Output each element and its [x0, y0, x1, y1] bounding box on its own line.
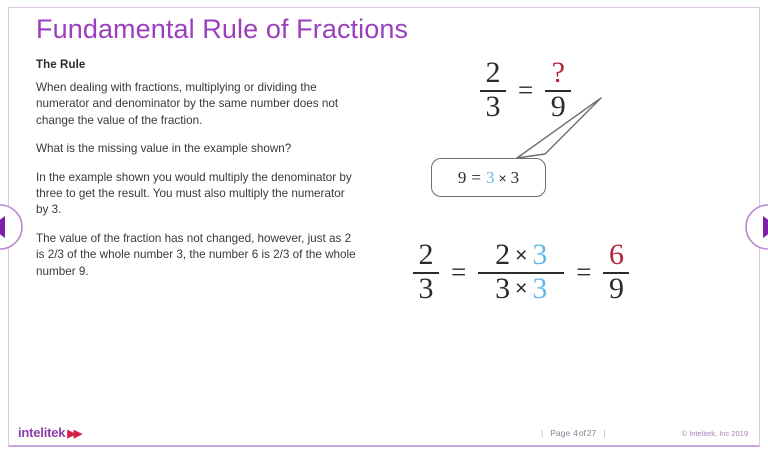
equals-sign-first: = [451, 257, 466, 288]
denominator-left-factor: 3 [495, 274, 510, 304]
separator-left: | [541, 428, 543, 438]
equation-bottom: 2 3 = 2 × 3 3 × 3 = 6 [413, 240, 629, 306]
page-label: Page [550, 428, 570, 438]
arrow-right-icon[interactable] [744, 203, 768, 251]
section-heading: The Rule [36, 59, 356, 71]
arrow-left-icon[interactable] [0, 203, 24, 251]
logo-wordmark: intelitek [18, 425, 65, 440]
fraction-two-thirds: 2 3 [480, 58, 506, 124]
page-title: Fundamental Rule of Fractions [36, 14, 408, 45]
paragraph-rule-definition: When dealing with fractions, multiplying… [36, 80, 356, 129]
numerator-right-factor: 3 [532, 240, 547, 270]
fraction-denominator: 3 [481, 92, 506, 124]
previous-slide-button[interactable] [0, 203, 24, 251]
body-text-column: The Rule When dealing with fractions, mu… [36, 59, 356, 280]
fraction-denominator-product: 3 × 3 [490, 274, 552, 306]
callout-times-icon: × [498, 170, 506, 186]
fraction-result: 6 9 [603, 240, 629, 306]
page-total: 27 [587, 428, 596, 438]
footer-divider [9, 445, 759, 447]
fraction-numerator-unknown: ? [547, 58, 570, 90]
callout-equals: = [471, 168, 481, 188]
paragraph-conclusion: The value of the fraction has not change… [36, 231, 356, 280]
result-numerator: 6 [604, 240, 629, 272]
numerator-times-icon: × [515, 245, 527, 266]
callout-factor-highlight: 3 [486, 168, 495, 188]
callout-bubble: 9 = 3 × 3 [431, 158, 546, 197]
fraction-expanded: 2 × 3 3 × 3 [478, 240, 564, 306]
math-illustration: 2 3 = ? 9 9 = 3 × 3 2 [395, 50, 695, 340]
result-denominator: 9 [604, 274, 629, 306]
equals-sign-second: = [576, 257, 591, 288]
fraction-numerator-product: 2 × 3 [490, 240, 552, 272]
callout-factor: 3 [511, 168, 520, 188]
logo-double-arrow-icon: ▶▶ [67, 427, 80, 440]
denominator-right-factor: 3 [532, 274, 547, 304]
paragraph-question: What is the missing value in the example… [36, 141, 356, 157]
fraction-two-thirds: 2 3 [413, 240, 439, 306]
paragraph-explanation: In the example shown you would multiply … [36, 170, 356, 219]
denominator-times-icon: × [515, 278, 527, 299]
numerator-left-factor: 2 [495, 240, 510, 270]
page-of-label: of [579, 428, 586, 438]
page-indicator: | Page 4 of 27 | [534, 428, 613, 438]
callout-pointer-icon [515, 96, 605, 166]
slide-canvas: Fundamental Rule of Fractions The Rule W… [0, 0, 768, 454]
intelitek-logo: intelitek ▶▶ [18, 425, 80, 440]
page-number: 4 [573, 428, 578, 438]
callout-left-value: 9 [458, 168, 467, 188]
copyright-notice: © Intelitek, Inc 2019 [682, 429, 748, 438]
separator-right: | [603, 428, 605, 438]
fraction-denominator: 3 [414, 274, 439, 306]
next-slide-button[interactable] [744, 203, 768, 251]
fraction-numerator: 2 [481, 58, 506, 90]
fraction-numerator: 2 [414, 240, 439, 272]
